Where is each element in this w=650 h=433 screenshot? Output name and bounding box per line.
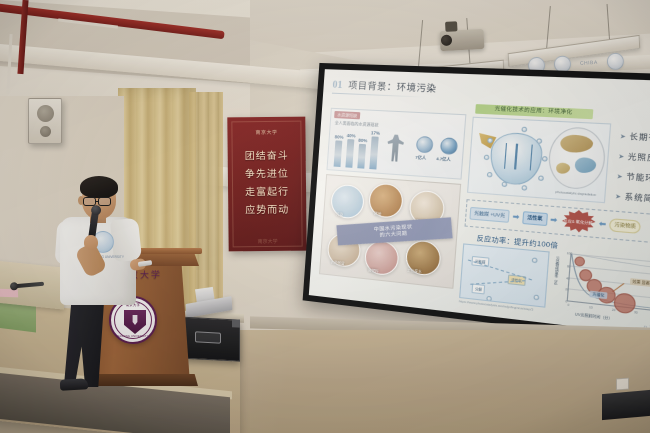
arrow-left-icon: ⬅ [599, 219, 607, 228]
presenter-hair [80, 176, 118, 198]
infographic-caption: 全人类面临的水资源现状 [335, 120, 379, 128]
wall-outlet-icon [616, 378, 629, 391]
circle-caption: 污染 [336, 212, 343, 218]
slide-section-number: 01 [332, 80, 343, 91]
speaker-cone-icon [37, 105, 54, 122]
slide-body: 光催化技术的应用：环境净化 水资源短缺 全人类面临的水资源现状 80% 40% [318, 98, 650, 321]
benefit-bullet-list: ➤ 长期有效 ➤ 光照反应 ➤ 节能环保 ➤ 系 [615, 131, 650, 207]
circle-caption: 工业废水 [407, 268, 422, 275]
infographic-bar-item: 40% [344, 133, 355, 168]
flow-input-chip: 光触媒 +UV光 [469, 207, 510, 222]
globe-icon [416, 136, 434, 154]
floor-equipment-case [602, 390, 650, 420]
slide-content: 01 项目背景：环境污染 光催化技术的应用：环境净化 水资源短缺 全人类面临的水… [309, 69, 650, 336]
presentation-room-photo: 南京大学 团结奋斗 争先进位 走富起行 应势而动 南京大学 CHIBA 01 项… [0, 0, 650, 433]
bar-value-label: 80% [358, 138, 367, 144]
molecule-node-icon [536, 138, 542, 144]
presenter-shoe [60, 378, 89, 390]
infographic-ribbon: 中国水污染现状 的六大问题 [336, 217, 452, 245]
projector-lens-icon [441, 35, 453, 47]
chevron-right-icon: ➤ [618, 152, 625, 160]
projection-screen-surface: 01 项目背景：环境污染 光催化技术的应用：环境净化 水资源短缺 全人类面临的水… [309, 69, 650, 336]
bullet-label: 节能环保 [626, 171, 650, 185]
photocatalysis-reactor-diagram: photocatalytic degradation [467, 117, 611, 204]
bullet-item: ➤ 节能环保 [616, 171, 650, 187]
water-molecule-shape [574, 157, 596, 174]
bar-shape [334, 140, 343, 167]
bar-shape [357, 144, 366, 169]
efficiency-chart: 污染物残留率（%） [552, 250, 650, 325]
chart-bubble [613, 292, 636, 314]
projection-screen: 01 项目背景：环境污染 光催化技术的应用：环境净化 水资源短缺 全人类面临的水… [303, 63, 650, 344]
bar-shape [369, 136, 378, 169]
chart-x-tick: 20 [612, 307, 616, 312]
organic-matter-shape [560, 134, 594, 153]
mechanism-dot-icon [486, 296, 492, 302]
bar-value-label: 80% [335, 134, 344, 140]
flow-target-chip: 污染物质 [609, 218, 641, 233]
wall-speaker-icon [28, 98, 62, 144]
bullet-label: 长期有效 [629, 131, 650, 144]
mechanism-link [468, 260, 532, 281]
degradation-detail-circle [547, 126, 608, 191]
bullet-item: ➤ 光照反应 [618, 151, 650, 166]
infographic-bar-item: 17% [368, 130, 380, 169]
presentation-clicker-icon [138, 260, 153, 267]
bar-value-label: 40% [347, 133, 356, 139]
glasses-lens-icon [98, 197, 111, 206]
chevron-right-icon: ➤ [615, 192, 622, 200]
circle-caption: 农药残留 [330, 260, 344, 266]
presenter-legs [64, 295, 108, 387]
chart-x-tick: 30 [634, 310, 638, 315]
glasses-bridge-icon [96, 201, 99, 202]
water-pollution-infographic: 污染 耕地 重金属 农药残留 微塑料 工业废水 中国水污染现状 的六大问题 [319, 174, 461, 289]
circle-caption: 微塑料 [368, 268, 379, 274]
flow-intermediate-chip: 活性氧 [522, 211, 547, 225]
reactor-subcaption: photocatalytic degradation [555, 190, 596, 197]
arrow-right-icon: ➡ [512, 212, 519, 221]
people-figure-icon [386, 134, 404, 162]
chart-x-tick: 10 [589, 305, 593, 310]
globe-value-label: 7亿人 [415, 155, 426, 162]
globe-value-label: 4.7亿人 [436, 156, 451, 163]
banner-line: 团结奋斗 [234, 147, 300, 163]
chart-y-tick: 80 [567, 264, 571, 269]
mechanism-dot-icon [533, 294, 539, 300]
globe-icon [440, 137, 458, 155]
chart-x-tick: 0 [567, 303, 569, 308]
mechanism-diagram: 光触媒 活性氧 分解 [459, 243, 550, 307]
banner-footer: 南京大学 [229, 238, 307, 246]
arrow-right-icon: ➡ [550, 216, 557, 225]
bar-value-label: 17% [371, 130, 380, 136]
infographic-bar-item: 80% [356, 138, 367, 169]
banner-lines: 团结奋斗 争先进位 走富起行 应势而动 [234, 147, 301, 217]
chevron-right-icon: ➤ [620, 132, 627, 140]
molecule-node-icon [538, 175, 544, 181]
banner-line: 应势而动 [234, 201, 300, 217]
case-corner-icon [232, 319, 240, 327]
banner-line: 走富起行 [234, 183, 300, 199]
presenter: NANJING UNIVERSITY [58, 183, 178, 398]
chart-y-tick: 100 [567, 251, 573, 256]
chart-y-tick: 40 [566, 276, 570, 281]
speaker-tweeter-icon [40, 126, 51, 137]
institution-emblem-icon [606, 53, 624, 71]
case-handle-icon [195, 331, 221, 343]
molecule-node-icon [502, 181, 508, 187]
ribbon-line-2: 的六大问题 [380, 231, 408, 239]
byproduct-shape [556, 162, 571, 174]
molecule-node-icon [521, 127, 527, 133]
window-curtain-secondary [189, 92, 223, 307]
molecule-node-icon [484, 155, 490, 161]
wall-banner: 南京大学 团结奋斗 争先进位 走富起行 应势而动 南京大学 [227, 117, 306, 252]
mechanism-node: 分解 [471, 284, 485, 295]
chart-plot-area: 光催化 效果 显著化 100 80 40 20 0 0 10 20 30 40 [567, 253, 650, 311]
molecule-node-icon [521, 185, 527, 191]
banner-header: 南京大学 [227, 129, 305, 137]
infographic-bar-group: 80% 40% 80% [333, 128, 381, 169]
presenter-hand-left [84, 235, 98, 250]
wall-wordmark: CHIBA [580, 59, 598, 66]
mechanism-dot-icon [532, 257, 538, 263]
chevron-right-icon: ➤ [616, 172, 623, 180]
chart-y-tick: 20 [565, 287, 569, 292]
bullet-label: 光照反应 [627, 151, 650, 164]
bar-shape [345, 139, 354, 168]
projector-icon [440, 29, 485, 51]
circle-caption: 耕地 [374, 211, 381, 217]
bullet-item: ➤ 长期有效 [619, 131, 650, 146]
reaction-burst-icon: 反应& 氧化分解 [560, 209, 597, 236]
slide-title: 项目背景：环境污染 [348, 78, 437, 95]
water-scarcity-infographic: 水资源短缺 全人类面临的水资源现状 80% 40% [326, 108, 466, 180]
chart-y-axis-label: 污染物残留率（%） [553, 256, 561, 287]
molecule-node-icon [487, 172, 493, 178]
chart-x-axis-label: UV光照射时间（分） [575, 311, 613, 321]
molecule-node-icon [542, 156, 548, 162]
banner-line: 争先进位 [234, 165, 300, 181]
infographic-bar-item: 80% [333, 134, 344, 167]
bullet-item: ➤ 系统简单 [615, 191, 650, 207]
infographic-tag: 水资源短缺 [334, 111, 360, 119]
bullet-label: 系统简单 [624, 191, 650, 205]
